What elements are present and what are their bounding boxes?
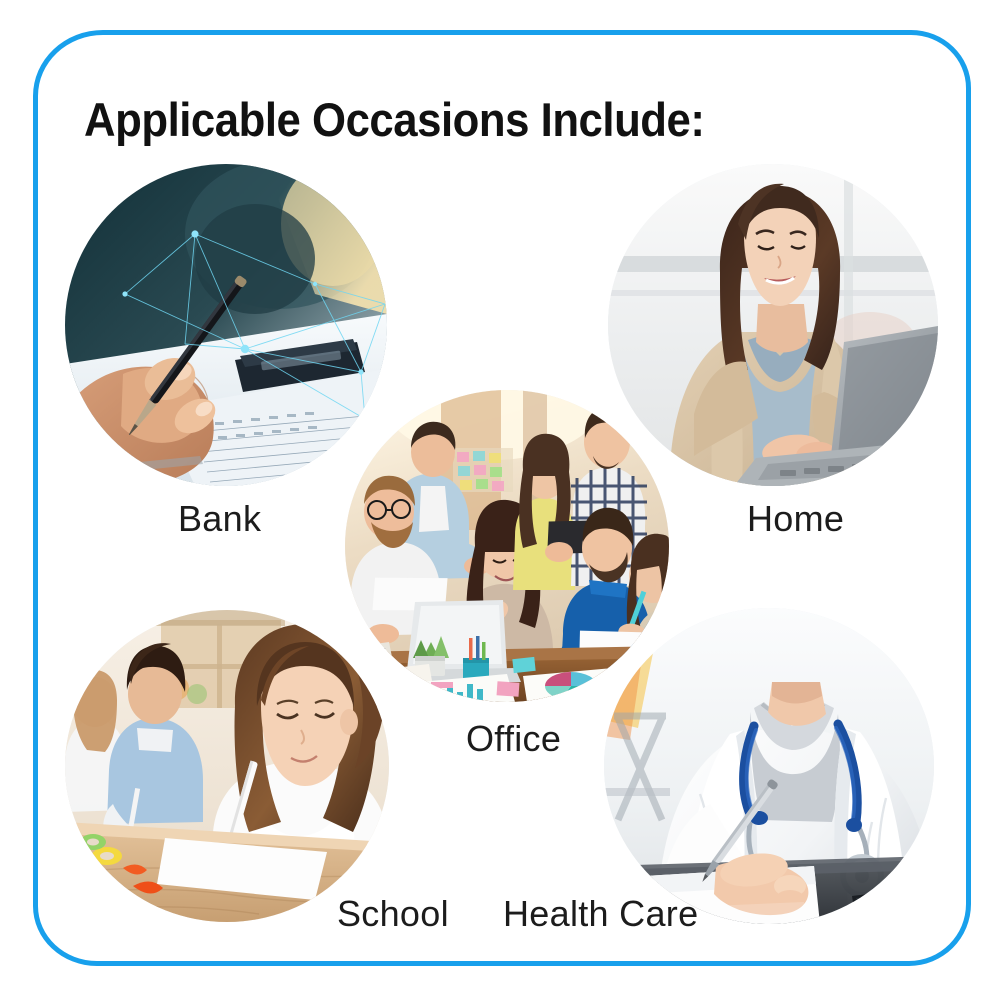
occasion-image-bank [65, 164, 387, 486]
occasion-label-school: School [337, 893, 449, 935]
occasion-image-school [65, 610, 389, 922]
occasion-image-home [608, 164, 938, 486]
occasion-image-health-care [604, 608, 934, 924]
occasion-label-home: Home [747, 498, 844, 540]
home-photo [608, 164, 938, 486]
occasion-image-office [345, 390, 669, 702]
occasion-label-health-care: Health Care [503, 893, 698, 935]
page-title: Applicable Occasions Include: [84, 92, 704, 147]
office-photo [345, 390, 669, 702]
occasion-label-bank: Bank [178, 498, 261, 540]
school-photo [65, 610, 389, 922]
bank-photo [65, 164, 387, 486]
occasion-label-office: Office [466, 718, 561, 760]
poster-canvas: Applicable Occasions Include: [0, 0, 1000, 1000]
health-care-photo [604, 608, 934, 924]
